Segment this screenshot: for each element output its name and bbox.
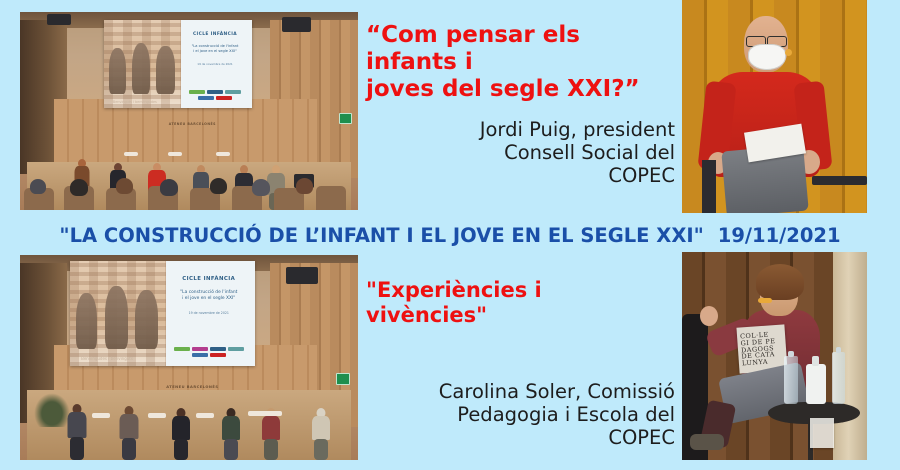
side-table xyxy=(124,152,138,156)
slide-text-block: CICLE INFÀNCIA "La construcció de l'infa… xyxy=(182,32,247,66)
bottom-headline-text: "Experiències i vivències" xyxy=(366,278,666,328)
side-table xyxy=(216,152,230,156)
slide-person-3 xyxy=(135,290,158,349)
ceiling-speaker-left xyxy=(47,14,71,25)
banner: "LA CONSTRUCCIÓ DE L’INFANT I EL JOVE EN… xyxy=(0,224,900,247)
audience-head xyxy=(70,179,88,196)
hand-sanitizer-bottle xyxy=(806,364,826,404)
slide-person-1 xyxy=(76,293,97,350)
raised-hand xyxy=(700,306,718,326)
bottle-cap xyxy=(788,351,794,357)
auditorium-panel-wide-photo: CICLE INFÀNCIA "La construcció de l'infa… xyxy=(20,12,358,210)
logo-1 xyxy=(174,347,190,351)
top-speaker-line3: COPEC xyxy=(380,164,675,187)
side-table xyxy=(196,413,214,418)
napkin xyxy=(810,418,834,448)
bottle-cap xyxy=(836,347,842,353)
slide-subtitle-line2: i el jove en el segle XXI" xyxy=(182,49,247,54)
top-headline-line2: joves del segle XXI?” xyxy=(366,76,666,103)
audience-head xyxy=(30,179,46,194)
logo-4 xyxy=(228,347,244,351)
banner-date: 19/11/2021 xyxy=(718,224,841,247)
venue-sign: ATENEU BARCELONÈS xyxy=(155,385,229,389)
side-table xyxy=(92,413,110,418)
ceiling-speaker-right xyxy=(282,17,311,32)
top-speaker: Jordi Puig, president Consell Social del… xyxy=(380,118,675,187)
mask-ear-loop xyxy=(785,49,792,56)
slide-subtitle-line1: "La construcció de l'infant xyxy=(168,290,249,296)
banner-title: "LA CONSTRUCCIÓ DE L’INFANT I EL JOVE EN… xyxy=(59,224,703,247)
logo-4 xyxy=(198,96,214,100)
slide-welcome: Benvingudes i benvinguts xyxy=(81,356,133,361)
audience-head xyxy=(160,179,178,196)
logo-1 xyxy=(189,90,205,94)
bottom-headline: "Experiències i vivències" xyxy=(366,278,666,328)
audience-head xyxy=(296,178,313,194)
chair-edge xyxy=(812,176,867,185)
face-mask xyxy=(748,44,786,70)
venue-sign: ATENEU BARCELONÈS xyxy=(155,122,229,126)
audience-head xyxy=(252,179,270,196)
slide-subtitle-line2: i el jove en el segle XXI" xyxy=(168,296,249,302)
torso xyxy=(312,416,330,440)
side-table xyxy=(148,413,166,418)
slide-person-2 xyxy=(132,43,150,94)
legs xyxy=(70,437,84,460)
legs xyxy=(122,438,136,460)
stage-back-wall xyxy=(54,99,318,166)
panelist xyxy=(308,402,334,460)
slide-date: 19 de novembre de 2021 xyxy=(168,311,249,316)
seat xyxy=(316,186,346,210)
water-bottle-right xyxy=(832,352,845,404)
slide-photo xyxy=(104,20,181,108)
top-speaker-line1: Jordi Puig, president xyxy=(380,118,675,141)
torso xyxy=(262,416,280,440)
bottom-speaker-line2: Pedagogia i Escola del xyxy=(380,403,675,426)
audience-head xyxy=(116,178,133,194)
man-red-sweater-photo xyxy=(682,0,867,213)
slide-person-3 xyxy=(156,46,174,94)
audience-area xyxy=(20,166,358,210)
bottom-speaker-line3: COPEC xyxy=(380,426,675,449)
panelist xyxy=(116,400,142,460)
logo-6 xyxy=(210,353,226,357)
logo-2 xyxy=(207,90,223,94)
side-table xyxy=(168,152,182,156)
slide-photo xyxy=(70,261,166,366)
slide-title: CICLE INFÀNCIA xyxy=(168,276,249,284)
exit-sign-icon xyxy=(336,373,350,385)
top-headline: “Com pensar els infants i joves del segl… xyxy=(366,22,666,103)
slide-person-2 xyxy=(105,286,128,349)
projection-screen: CICLE INFÀNCIA "La construcció de l'infa… xyxy=(104,20,252,108)
water-bottle-left xyxy=(784,356,798,404)
legs xyxy=(224,439,238,460)
logo-3 xyxy=(210,347,226,351)
slide-date: 19 de novembre de 2021 xyxy=(182,62,247,66)
shoe xyxy=(690,434,724,450)
poster-canvas: CICLE INFÀNCIA "La construcció de l'infa… xyxy=(0,0,900,470)
legs xyxy=(314,439,328,460)
top-headline-line1: “Com pensar els infants i xyxy=(366,22,666,76)
bottom-speaker-line1: Carolina Soler, Comissió xyxy=(380,380,675,403)
slide-person-1 xyxy=(109,48,126,94)
slide-title: CICLE INFÀNCIA xyxy=(182,32,247,38)
projection-screen: CICLE INFÀNCIA "La construcció de l'infa… xyxy=(70,261,255,366)
curly-hair xyxy=(756,264,804,300)
torso xyxy=(222,416,240,440)
slide-welcome: Benvinguts i benvingudes xyxy=(113,100,157,104)
exit-sign-icon xyxy=(339,113,352,124)
panelist xyxy=(64,398,90,460)
sanitizer-pump xyxy=(812,356,819,366)
panelist xyxy=(168,402,194,460)
chair-back xyxy=(702,160,716,213)
logo-2 xyxy=(192,347,208,351)
slide-logo-row xyxy=(170,347,248,357)
headset-mic xyxy=(758,298,772,303)
torso xyxy=(120,414,139,439)
audience-head xyxy=(210,178,227,194)
bottom-speaker: Carolina Soler, Comissió Pedagogia i Esc… xyxy=(380,380,675,449)
torso xyxy=(172,416,190,440)
logo-5 xyxy=(192,353,208,357)
logo-5 xyxy=(216,96,232,100)
woman-with-sign-photo: COL·LE GI DE PE DAGOGS DE CATA LUNYA xyxy=(682,252,867,460)
side-table xyxy=(248,411,282,416)
legs xyxy=(174,439,188,460)
slide-text-block: CICLE INFÀNCIA "La construcció de l'infa… xyxy=(168,276,249,316)
top-speaker-line2: Consell Social del xyxy=(380,141,675,164)
auditorium-panel-six-photo: CICLE INFÀNCIA "La construcció de l'infa… xyxy=(20,255,358,460)
logo-3 xyxy=(225,90,241,94)
panelist xyxy=(218,402,244,460)
legs xyxy=(264,439,278,460)
torso xyxy=(68,412,87,438)
ceiling-speaker-right xyxy=(286,267,318,284)
slide-logo-row xyxy=(184,90,246,100)
